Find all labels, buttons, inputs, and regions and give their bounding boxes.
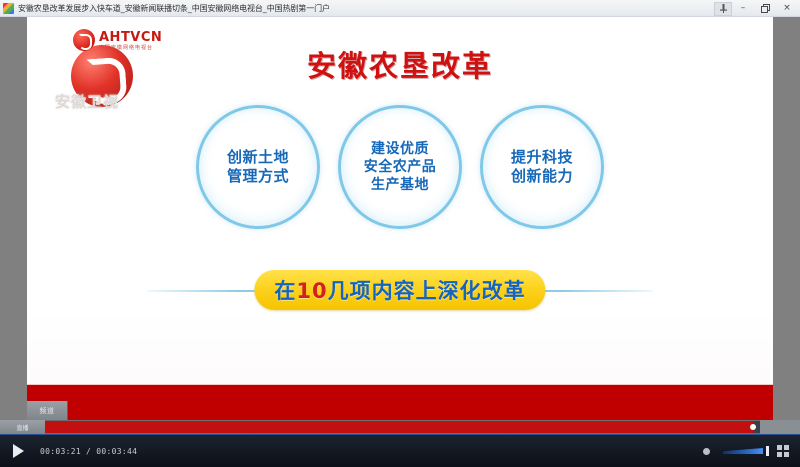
- player-right-controls: [702, 445, 790, 458]
- circle-line: 安全农产品: [364, 158, 437, 176]
- progress-knob[interactable]: [750, 424, 756, 430]
- circle-group: 创新土地 管理方式 建设优质 安全农产品 生产基地 提升科技 创新能力: [27, 105, 773, 255]
- banner-number: 10: [296, 279, 327, 303]
- page-content: AHTVCN 中国安徽网络电视台 安徽卫视 安徽农垦改革 创新土地 管理方式 建…: [0, 17, 800, 450]
- banner-row: 在10几项内容上深化改革: [27, 269, 773, 313]
- progress-track[interactable]: [45, 421, 760, 433]
- circle-land-management: 创新土地 管理方式: [196, 105, 320, 229]
- window-controls: – ×: [714, 0, 798, 17]
- volume-slider[interactable]: [723, 447, 769, 455]
- corner-tab[interactable]: 频道: [27, 401, 68, 420]
- left-gutter: [0, 17, 27, 420]
- time-display: 00:03:21 / 00:03:44: [40, 447, 137, 456]
- minimize-button[interactable]: –: [732, 1, 754, 16]
- progress-fill: [45, 421, 753, 433]
- slide-title: 安徽农垦改革: [27, 43, 773, 85]
- circle-line: 建设优质: [371, 140, 429, 158]
- progress-bar[interactable]: 直播: [0, 420, 800, 434]
- circle-line: 创新能力: [511, 167, 573, 186]
- progress-left-cap[interactable]: 直播: [0, 420, 45, 434]
- banner-pill: 在10几项内容上深化改革: [254, 270, 545, 310]
- progress-right-cap: [760, 420, 800, 434]
- browser-window: 安徽农垦改革发展步入快车道_安徽新闻联播切条_中国安徽网络电视台_中国热剧第一门…: [0, 0, 800, 450]
- circle-line: 管理方式: [227, 167, 289, 186]
- circle-line: 创新土地: [227, 148, 289, 167]
- title-bar: 安徽农垦改革发展步入快车道_安徽新闻联播切条_中国安徽网络电视台_中国热剧第一门…: [0, 0, 800, 17]
- circle-quality-production: 建设优质 安全农产品 生产基地: [338, 105, 462, 229]
- circle-tech-innovation: 提升科技 创新能力: [480, 105, 604, 229]
- banner-text: 在10几项内容上深化改革: [274, 275, 525, 305]
- close-button[interactable]: ×: [776, 1, 798, 16]
- right-gutter: [773, 17, 800, 420]
- player-control-bar: 00:03:21 / 00:03:44: [0, 434, 800, 467]
- play-icon[interactable]: [10, 443, 26, 459]
- window-title: 安徽农垦改革发展步入快车道_安徽新闻联播切条_中国安徽网络电视台_中国热剧第一门…: [18, 3, 330, 14]
- banner-prefix: 在: [274, 279, 296, 303]
- maximize-button[interactable]: [754, 1, 776, 16]
- fullscreen-grid-icon[interactable]: [777, 445, 790, 458]
- circle-line: 提升科技: [511, 148, 573, 167]
- browser-favicon-icon: [3, 3, 14, 14]
- volume-icon[interactable]: [702, 445, 715, 458]
- slide-graphic: AHTVCN 中国安徽网络电视台 安徽卫视 安徽农垦改革 创新土地 管理方式 建…: [27, 17, 773, 384]
- circle-line: 生产基地: [371, 176, 429, 194]
- banner-suffix: 几项内容上深化改革: [328, 279, 526, 303]
- pin-window-icon[interactable]: [714, 2, 732, 16]
- red-bottom-band: [27, 384, 773, 420]
- video-stage[interactable]: AHTVCN 中国安徽网络电视台 安徽卫视 安徽农垦改革 创新土地 管理方式 建…: [27, 17, 773, 420]
